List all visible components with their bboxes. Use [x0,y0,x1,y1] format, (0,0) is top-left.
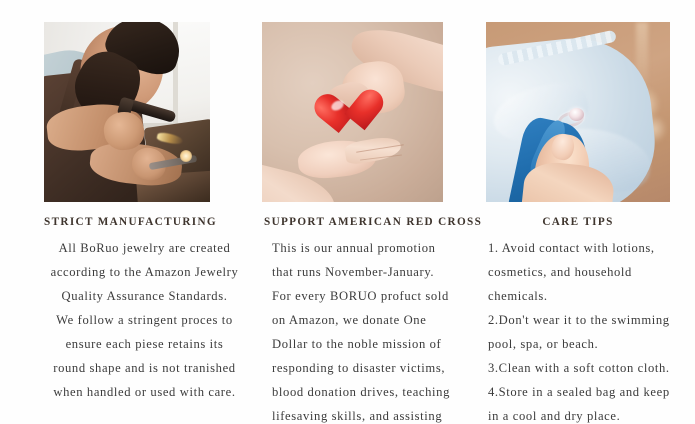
text-line: round shape and is not tranished [44,356,245,380]
heading-care-tips: CARE TIPS [486,202,670,236]
text-line: Quality Assurance Standards. [44,284,245,308]
text-line: lifesaving skills, and assisting [272,404,470,424]
text-line: blood donation drives, teaching [272,380,470,404]
heading-support-american-red-cross: SUPPORT AMERICAN RED CROSS [262,202,470,236]
jeweler-torch-photo [44,22,210,202]
column-strict-manufacturing: STRICT MANUFACTURING All BoRuo jewelry a… [0,22,245,424]
hands-heart-photo [262,22,443,202]
text-line: For every BORUO profuct sold [272,284,470,308]
text-line: pool, spa, or beach. [488,332,695,356]
three-column-layout: STRICT MANUFACTURING All BoRuo jewelry a… [0,0,695,424]
red-heart-icon [321,92,371,141]
column-support-american-red-cross: SUPPORT AMERICAN RED CROSS This is our a… [245,22,470,424]
text-line: in a cool and dry place. [488,404,695,424]
text-line: chemicals. [488,284,695,308]
text-line: ensure each piese retains its [44,332,245,356]
body-support-american-red-cross: This is our annual promotion that runs N… [262,236,470,424]
text-line: responding to disaster victims, [272,356,470,380]
text-line: when handled or used with care. [44,380,245,404]
text-line: 2.Don't wear it to the swimming [488,308,695,332]
body-care-tips: 1. Avoid contact with lotions, cosmetics… [486,236,695,424]
text-line: 3.Clean with a soft cotton cloth. [488,356,695,380]
body-strict-manufacturing: All BoRuo jewelry are created according … [44,236,245,404]
text-line: We follow a stringent proces to [44,308,245,332]
text-line: cosmetics, and household [488,260,695,284]
text-line: All BoRuo jewelry are created [44,236,245,260]
text-line: on Amazon, we donate One [272,308,470,332]
ring-polishing-photo [486,22,670,202]
text-line: 1. Avoid contact with lotions, [488,236,695,260]
text-line: according to the Amazon Jewelry [44,260,245,284]
heading-strict-manufacturing: STRICT MANUFACTURING [44,202,210,236]
photo1-spark-glow [180,150,192,162]
column-care-tips: CARE TIPS 1. Avoid contact with lotions,… [470,22,695,424]
text-line: 4.Store in a sealed bag and keep [488,380,695,404]
text-line: This is our annual promotion [272,236,470,260]
text-line: that runs November-January. [272,260,470,284]
text-line: Dollar to the noble mission of [272,332,470,356]
product-info-module: STRICT MANUFACTURING All BoRuo jewelry a… [0,0,695,424]
